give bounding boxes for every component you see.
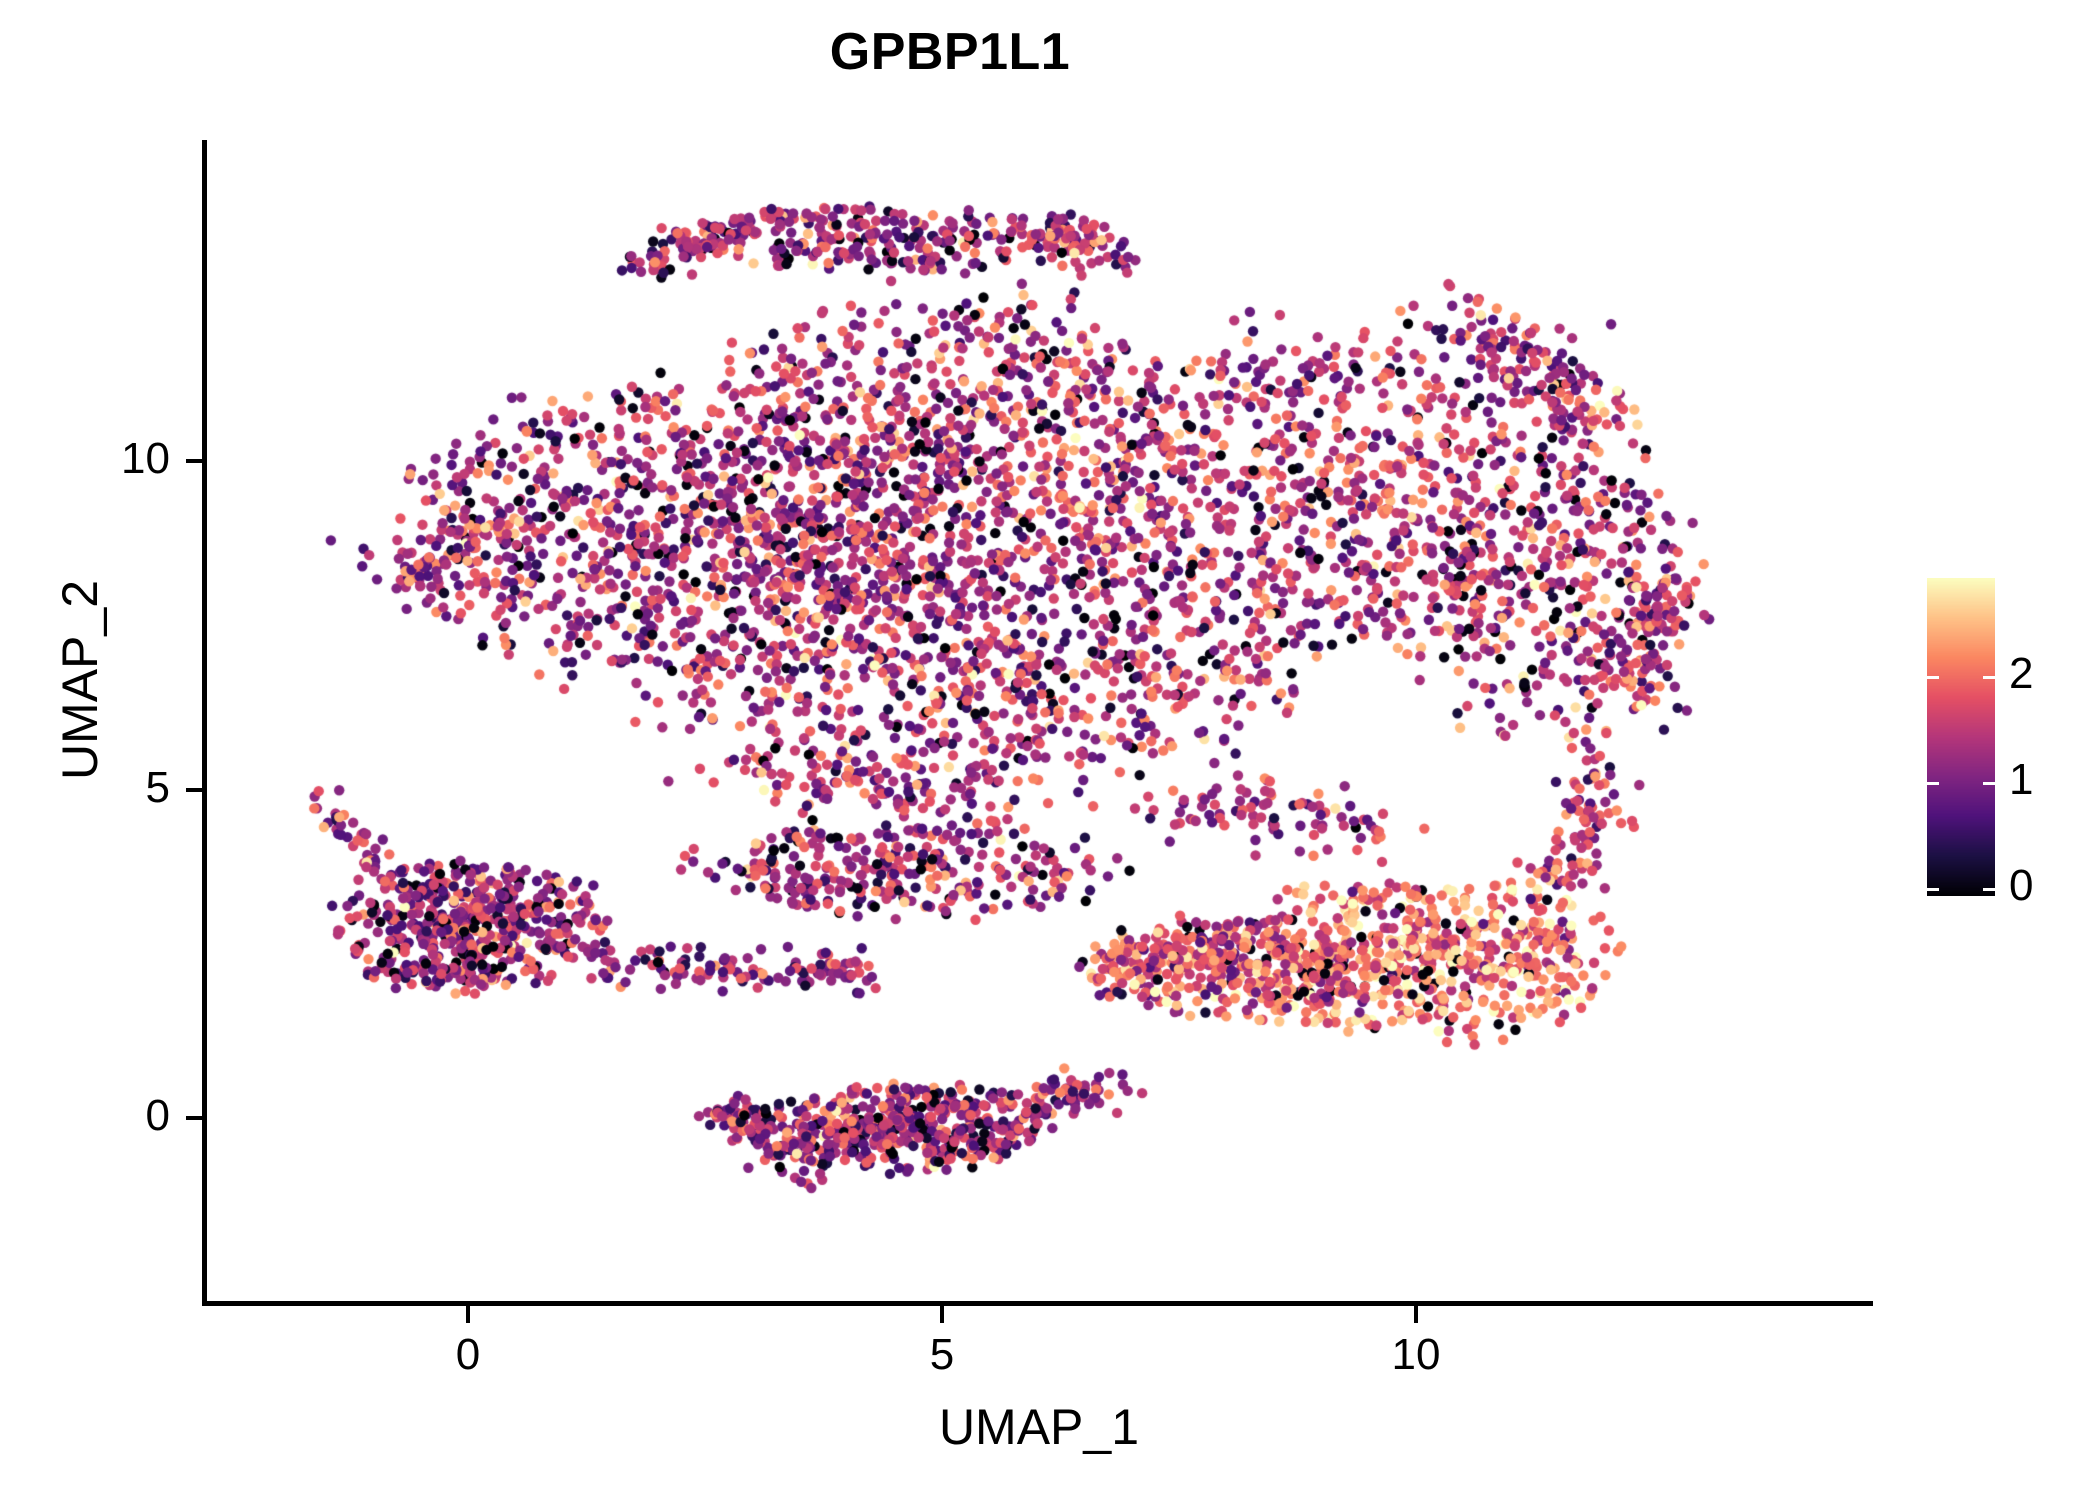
x-tick-mark-10 xyxy=(1414,1306,1418,1323)
y-axis-title: UMAP_2 xyxy=(51,330,109,1030)
legend-tick-2-left xyxy=(1927,676,1939,679)
legend-tick-1-left xyxy=(1927,782,1939,785)
page-title: GPBP1L1 xyxy=(0,22,1900,82)
legend-label-0: 0 xyxy=(2009,864,2033,908)
x-tick-mark-5 xyxy=(940,1306,944,1323)
y-tick-mark-5 xyxy=(186,788,203,792)
color-legend: 2 1 0 xyxy=(1927,578,1995,896)
legend-tick-0-right xyxy=(1983,888,1995,891)
legend-tick-1-right xyxy=(1983,782,1995,785)
x-tick-label-0: 0 xyxy=(388,1330,548,1380)
legend-tick-2-right xyxy=(1983,676,1995,679)
y-axis-line xyxy=(202,140,207,1306)
legend-tick-0-left xyxy=(1927,888,1939,891)
x-tick-mark-0 xyxy=(466,1306,470,1323)
x-tick-label-10: 10 xyxy=(1336,1330,1496,1380)
x-axis-title: UMAP_1 xyxy=(205,1398,1873,1456)
y-tick-label-0: 0 xyxy=(20,1091,170,1141)
x-tick-label-5: 5 xyxy=(862,1330,1022,1380)
y-tick-mark-10 xyxy=(186,459,203,463)
scatter-points-layer xyxy=(205,140,1873,1303)
legend-label-1: 1 xyxy=(2009,758,2033,802)
x-axis-line xyxy=(202,1301,1873,1306)
y-tick-mark-0 xyxy=(186,1116,203,1120)
plot-panel xyxy=(205,140,1873,1303)
chart-root: GPBP1L1 10 5 0 0 5 10 UMAP_1 UMAP_2 2 1 … xyxy=(0,0,2100,1500)
legend-label-2: 2 xyxy=(2009,652,2033,696)
color-legend-gradient xyxy=(1927,578,1995,896)
